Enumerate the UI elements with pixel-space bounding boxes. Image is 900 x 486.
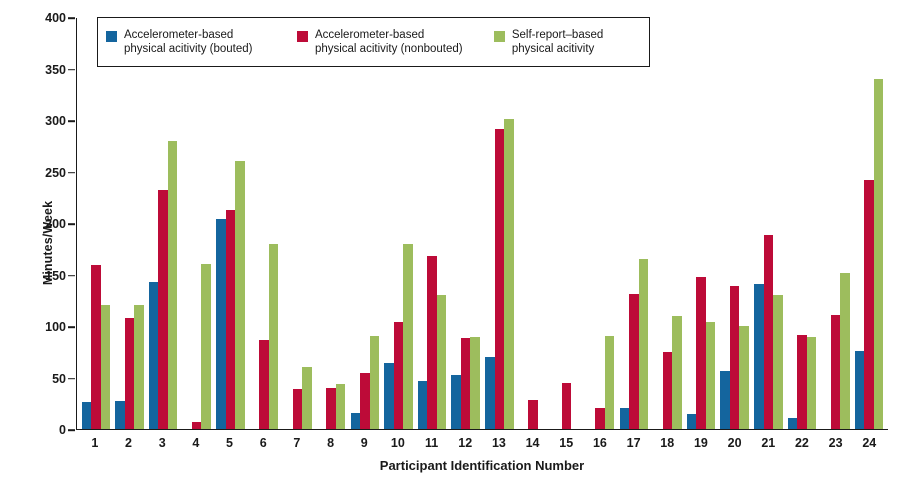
bar-group	[79, 18, 113, 429]
bar-group	[819, 18, 853, 429]
bar	[797, 335, 807, 429]
bar	[201, 264, 211, 429]
y-axis-tick: 300	[30, 114, 75, 128]
bar-group	[415, 18, 449, 429]
x-axis-tick: 14	[516, 431, 550, 453]
x-axis-tick: 6	[246, 431, 280, 453]
x-axis-tick: 21	[751, 431, 785, 453]
bar-group	[516, 18, 550, 429]
x-axis-tick: 1	[78, 431, 112, 453]
bar-group	[550, 18, 584, 429]
bar	[226, 210, 236, 429]
bar-group	[684, 18, 718, 429]
bar	[739, 326, 749, 429]
x-axis-tick: 13	[482, 431, 516, 453]
bar	[149, 282, 159, 429]
legend-swatch-crimson-icon	[297, 31, 308, 42]
bar	[461, 338, 471, 429]
x-axis-tick: 17	[617, 431, 651, 453]
bar	[125, 318, 135, 429]
bar	[831, 315, 841, 429]
bar	[470, 337, 480, 429]
bar	[326, 388, 336, 429]
bar	[807, 337, 817, 429]
y-axis-tick: 400	[30, 11, 75, 25]
bar-group	[785, 18, 819, 429]
y-axis-tick: 50	[30, 372, 75, 386]
bar-group	[382, 18, 416, 429]
x-axis-tick: 3	[145, 431, 179, 453]
bar-group	[247, 18, 281, 429]
bar	[639, 259, 649, 429]
bar	[864, 180, 874, 429]
bar-group	[483, 18, 517, 429]
bar	[158, 190, 168, 429]
legend-item: Accelerometer-based physical acitivity (…	[297, 28, 494, 57]
x-axis-tick: 20	[718, 431, 752, 453]
bar-groups	[77, 18, 888, 429]
y-axis-tick: 100	[30, 320, 75, 334]
bar	[495, 129, 505, 429]
bar	[855, 351, 865, 429]
bar	[115, 401, 125, 429]
bar	[730, 286, 740, 429]
bar	[394, 322, 404, 429]
bar	[620, 408, 630, 429]
x-axis-tick: 18	[650, 431, 684, 453]
bar-group	[146, 18, 180, 429]
bar	[269, 244, 279, 429]
bar	[562, 383, 572, 429]
x-axis-tick: 5	[213, 431, 247, 453]
bar	[663, 352, 673, 429]
bar	[403, 244, 413, 429]
bar	[687, 414, 697, 429]
bar-group	[314, 18, 348, 429]
bar-group	[348, 18, 382, 429]
y-axis-tick: 350	[30, 63, 75, 77]
x-axis-tick: 19	[684, 431, 718, 453]
bar	[336, 384, 346, 429]
bar	[696, 277, 706, 429]
bar-group	[852, 18, 886, 429]
bar	[706, 322, 716, 429]
x-axis-tick: 22	[785, 431, 819, 453]
x-axis-tick: 9	[347, 431, 381, 453]
y-axis-tick: 200	[30, 217, 75, 231]
bar	[595, 408, 605, 429]
x-axis-tick-labels: 123456789101112131415161718192021222324	[76, 431, 888, 453]
bar-group	[180, 18, 214, 429]
legend-item-label: Self-report–based physical acitivity	[512, 28, 603, 57]
bar	[840, 273, 850, 429]
bar	[874, 79, 884, 429]
bar	[192, 422, 202, 429]
legend-swatch-green-icon	[494, 31, 505, 42]
bar	[672, 316, 682, 429]
bar-group	[449, 18, 483, 429]
bar-group	[214, 18, 248, 429]
x-axis-tick: 11	[415, 431, 449, 453]
bar-group	[651, 18, 685, 429]
bar	[788, 418, 798, 429]
bar	[360, 373, 370, 429]
bar	[168, 141, 178, 429]
legend-item-label: Accelerometer-based physical acitivity (…	[315, 28, 463, 57]
x-axis-tick: 15	[549, 431, 583, 453]
legend-swatch-blue-icon	[106, 31, 117, 42]
bar-group	[718, 18, 752, 429]
bar	[528, 400, 538, 429]
y-axis-tick-labels: 400350300250200150100500	[30, 18, 75, 430]
bar	[235, 161, 245, 429]
bar	[384, 363, 394, 429]
bar	[754, 284, 764, 429]
bar-group	[281, 18, 315, 429]
x-axis-tick: 16	[583, 431, 617, 453]
x-axis-tick: 4	[179, 431, 213, 453]
y-axis-tick: 150	[30, 269, 75, 283]
bar	[773, 295, 783, 429]
bar	[720, 371, 730, 429]
bar	[485, 357, 495, 429]
x-axis-tick: 12	[448, 431, 482, 453]
bar	[293, 389, 303, 429]
y-axis-tick: 250	[30, 166, 75, 180]
x-axis-tick: 23	[819, 431, 853, 453]
bar-group	[113, 18, 147, 429]
plot-area	[76, 18, 888, 430]
bar	[629, 294, 639, 429]
bar	[82, 402, 92, 429]
bar	[418, 381, 428, 429]
bar	[764, 235, 774, 429]
x-axis-tick: 7	[280, 431, 314, 453]
bar	[259, 340, 269, 429]
bar	[370, 336, 380, 429]
bar	[437, 295, 447, 429]
bar-chart: Minutes/Week 400350300250200150100500 12…	[0, 0, 900, 486]
bar	[101, 305, 111, 429]
x-axis-tick: 10	[381, 431, 415, 453]
legend: Accelerometer-based physical acitivity (…	[97, 17, 650, 67]
x-axis-title: Participant Identification Number	[76, 458, 888, 473]
bar-group	[583, 18, 617, 429]
x-axis-tick: 8	[314, 431, 348, 453]
x-axis-tick: 24	[852, 431, 886, 453]
bar	[504, 119, 514, 429]
bar-group	[617, 18, 651, 429]
bar	[451, 375, 461, 429]
x-axis-tick: 2	[112, 431, 146, 453]
legend-item-label: Accelerometer-based physical acitivity (…	[124, 28, 252, 57]
bar	[351, 413, 361, 429]
legend-item: Self-report–based physical acitivity	[494, 28, 643, 57]
bar	[302, 367, 312, 429]
bar	[91, 265, 101, 429]
bar	[605, 336, 615, 429]
y-axis-tick: 0	[30, 423, 75, 437]
bar-group	[752, 18, 786, 429]
bar	[216, 219, 226, 429]
bar	[427, 256, 437, 429]
bar	[134, 305, 144, 429]
legend-item: Accelerometer-based physical acitivity (…	[106, 28, 297, 57]
